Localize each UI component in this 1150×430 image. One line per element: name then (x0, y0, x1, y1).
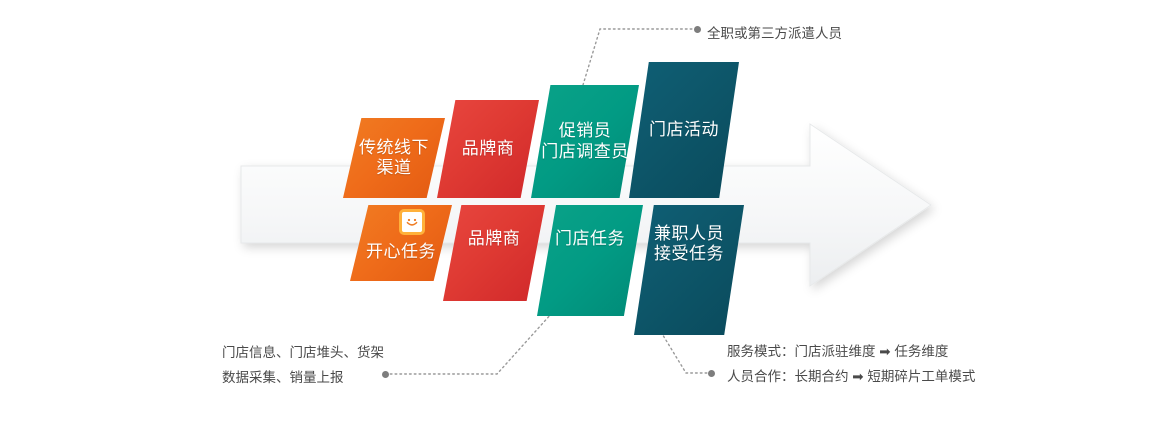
annotation-service-dot (708, 370, 715, 377)
step-bottom-3-shape (537, 205, 643, 316)
step-bottom-2[interactable]: 品牌商 (443, 205, 545, 301)
step-bottom-2-shape (443, 205, 545, 301)
step-bottom-1-label: 开心任务 (366, 242, 436, 262)
step-bottom-3-label: 门店任务 (555, 229, 625, 249)
diagram-canvas: 传统线下 渠道 品牌商 促销员 门店调查员 门店活动 开心任务 品牌商 门店任务 (0, 0, 1150, 430)
annotation-data-line-2: 数据采集、销量上报 (222, 365, 384, 390)
step-top-2-label: 品牌商 (462, 139, 515, 159)
step-top-3-label: 促销员 门店调查员 (541, 121, 629, 161)
step-top-3[interactable]: 促销员 门店调查员 (531, 85, 639, 198)
step-bottom-3[interactable]: 门店任务 (537, 205, 643, 316)
step-top-1[interactable]: 传统线下 渠道 (343, 118, 445, 198)
smiley-face-icon (399, 209, 425, 235)
step-top-4-label: 门店活动 (649, 120, 719, 140)
annotation-service-model: 服务模式：门店派驻维度 ➡ 任务维度 人员合作：长期合约 ➡ 短期碎片工单模式 (727, 339, 975, 389)
annotation-service-line-1: 服务模式：门店派驻维度 ➡ 任务维度 (727, 339, 975, 364)
annotation-staffing-dot (694, 26, 701, 33)
step-top-4[interactable]: 门店活动 (629, 62, 739, 198)
step-bottom-4[interactable]: 兼职人员 接受任务 (634, 205, 744, 335)
annotation-staffing-line-1: 全职或第三方派遣人员 (707, 21, 842, 46)
step-top-1-label: 传统线下 渠道 (359, 138, 429, 178)
annotation-staffing-type: 全职或第三方派遣人员 (707, 21, 842, 46)
step-bottom-2-label: 品牌商 (468, 229, 521, 249)
annotation-service-line-2: 人员合作：长期合约 ➡ 短期碎片工单模式 (727, 364, 975, 389)
step-bottom-1[interactable]: 开心任务 (350, 205, 452, 281)
annotation-data-collection: 门店信息、门店堆头、货架 数据采集、销量上报 (222, 340, 384, 390)
step-bottom-4-label: 兼职人员 接受任务 (654, 224, 724, 264)
annotation-data-line-1: 门店信息、门店堆头、货架 (222, 340, 384, 365)
step-top-2[interactable]: 品牌商 (437, 100, 539, 198)
